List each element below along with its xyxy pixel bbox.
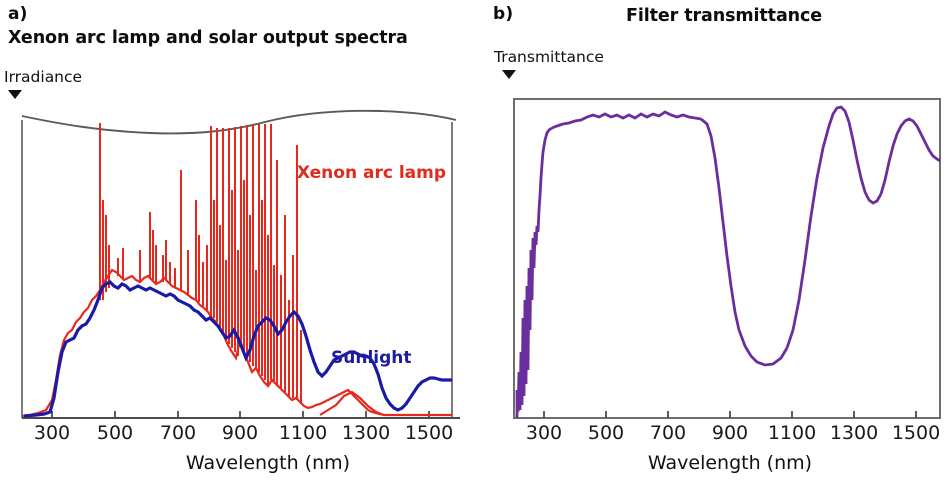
panel-b: b) Filter transmittance Transmittance xyxy=(475,0,950,481)
panel-a-tick-1100: 1100 xyxy=(279,422,327,444)
sunlight-label: Sunlight xyxy=(331,348,412,368)
panel-b-x-axis-title: Wavelength (nm) xyxy=(648,452,812,474)
panel-a-tick-1500: 1500 xyxy=(405,422,453,444)
panel-b-tick-900: 900 xyxy=(712,422,748,444)
panel-b-tick-300: 300 xyxy=(526,422,562,444)
panel-a: a) Xenon arc lamp and solar output spect… xyxy=(0,0,475,481)
envelope-curve xyxy=(22,111,456,134)
xenon-arc-lamp-label: Xenon arc lamp xyxy=(297,163,446,183)
panel-a-tick-1300: 1300 xyxy=(342,422,390,444)
panel-b-tick-500: 500 xyxy=(588,422,624,444)
panel-a-x-axis-title: Wavelength (nm) xyxy=(186,452,350,474)
panel-b-tick-1500: 1500 xyxy=(892,422,940,444)
panel-b-tick-700: 700 xyxy=(650,422,686,444)
panel-b-plot-area xyxy=(475,0,950,440)
panel-b-chart-svg xyxy=(475,0,950,440)
filter-transmittance-curve xyxy=(517,107,940,418)
panel-b-tick-1100: 1100 xyxy=(768,422,816,444)
panel-a-tick-300: 300 xyxy=(34,422,70,444)
panel-b-tick-1300: 1300 xyxy=(830,422,878,444)
panel-a-plot-area xyxy=(0,0,475,440)
panel-a-chart-svg xyxy=(0,0,475,440)
panel-a-tick-500: 500 xyxy=(97,422,133,444)
panel-a-tick-700: 700 xyxy=(160,422,196,444)
panel-a-tick-900: 900 xyxy=(222,422,258,444)
